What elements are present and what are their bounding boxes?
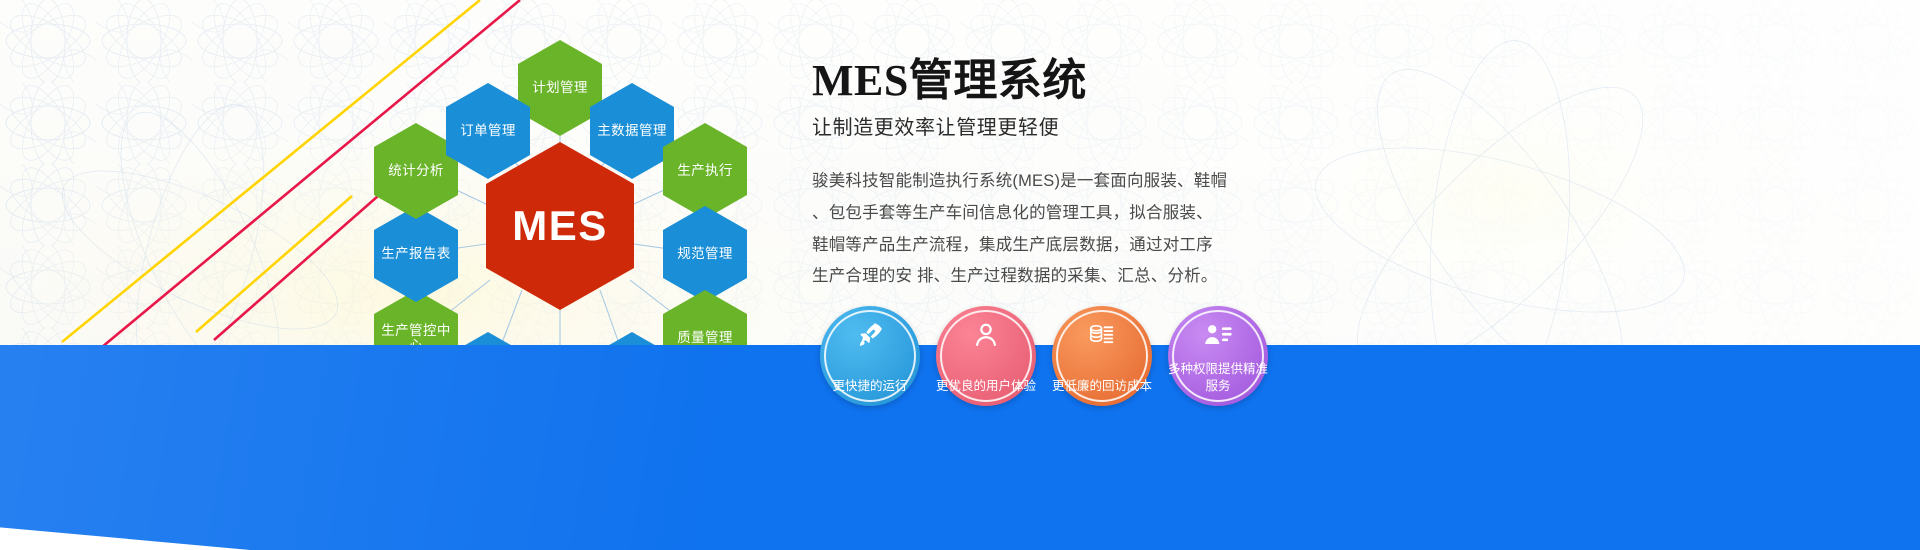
hex-node-3[interactable]: 规范管理 xyxy=(663,206,747,302)
hex-node-10[interactable]: 统计分析 xyxy=(374,123,458,219)
hex-node-9[interactable]: 生产报告表 xyxy=(374,206,458,302)
badge-label: 更快捷的运行 xyxy=(832,378,907,395)
hex-node-label: 规范管理 xyxy=(672,246,738,261)
rocket-icon xyxy=(820,320,920,350)
badge-label: 更优良的用户体验 xyxy=(936,378,1036,395)
hex-node-label: 生产报告表 xyxy=(376,246,456,261)
banner-text-column: MES管理系统 让制造更效率让管理更轻便 骏美科技智能制造执行系统(MES)是一… xyxy=(812,58,1282,293)
user-icon xyxy=(936,320,1036,350)
coins-icon xyxy=(1052,320,1152,350)
page-subtitle: 让制造更效率让管理更轻便 xyxy=(812,111,1282,140)
hex-node-label: 主数据管理 xyxy=(592,123,672,138)
feature-badge-2[interactable]: 更低廉的回访成本 xyxy=(1052,306,1152,406)
hex-node-label: 生产执行 xyxy=(672,163,738,178)
feature-badge-1[interactable]: 更优良的用户体验 xyxy=(936,306,1036,406)
feature-badge-0[interactable]: 更快捷的运行 xyxy=(820,306,920,406)
hex-node-0[interactable]: 计划管理 xyxy=(518,40,602,136)
hex-node-11[interactable]: 订单管理 xyxy=(446,83,530,179)
feature-badge-3[interactable]: 多种权限提供精准服务 xyxy=(1168,306,1268,406)
description-paragraph: 骏美科技智能制造执行系统(MES)是一套面向服装、鞋帽 、包包手套等生产车间信息… xyxy=(812,166,1282,293)
hex-center-label: MES xyxy=(507,202,613,249)
hex-node-label: 统计分析 xyxy=(383,163,449,178)
paragraph-line: 生产合理的安 排、生产过程数据的采集、汇总、分析。 xyxy=(812,261,1282,293)
banner-root: MES 计划管理 主数据管理 生产执行 规范管理 质量管理 仓库管理 车间现场管… xyxy=(0,0,1920,550)
paragraph-line: 、包包手套等生产车间信息化的管理工具，拟合服装、 xyxy=(812,198,1282,230)
paragraph-line: 骏美科技智能制造执行系统(MES)是一套面向服装、鞋帽 xyxy=(812,166,1282,198)
hex-node-2[interactable]: 生产执行 xyxy=(663,123,747,219)
feature-badge-row: 更快捷的运行 更优良的用户体验 xyxy=(820,306,1268,406)
page-title: MES管理系统 xyxy=(812,58,1282,104)
hex-node-1[interactable]: 主数据管理 xyxy=(590,83,674,179)
id-card-icon xyxy=(1168,320,1268,350)
hex-node-label: 订单管理 xyxy=(455,123,521,138)
hex-node-label: 质量管理 xyxy=(672,330,738,345)
hex-node-label: 计划管理 xyxy=(527,80,593,95)
paragraph-line: 鞋帽等产品生产流程，集成生产底层数据，通过对工序 xyxy=(812,230,1282,262)
badge-label: 更低廉的回访成本 xyxy=(1052,378,1152,395)
badge-label: 多种权限提供精准服务 xyxy=(1168,361,1268,395)
